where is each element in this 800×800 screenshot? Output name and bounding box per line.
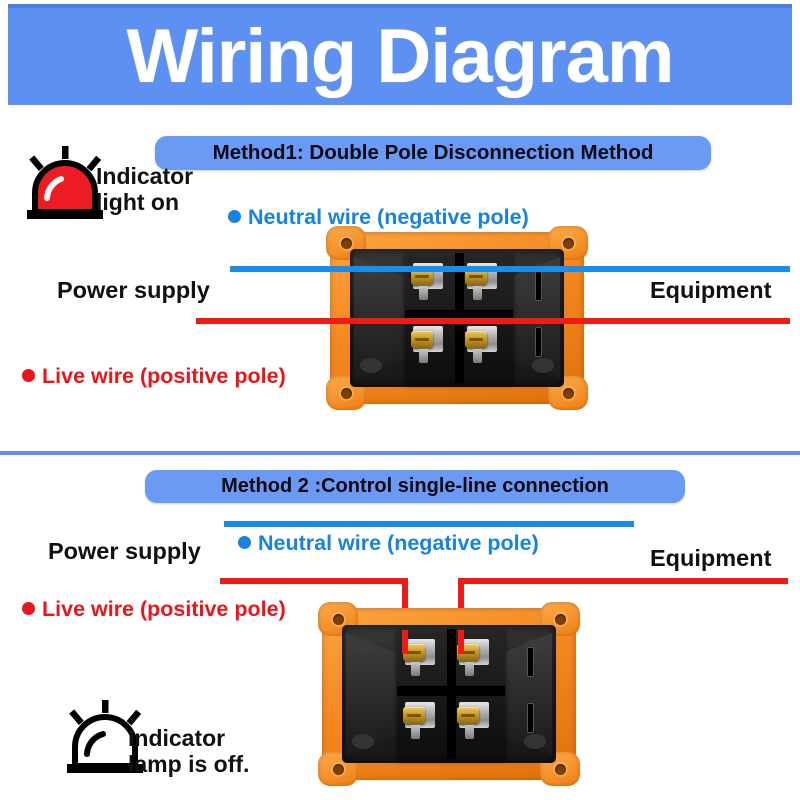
header-banner: Wiring Diagram — [8, 4, 792, 105]
m2-mount-hole-bl — [333, 764, 344, 775]
m2-neutral-text: Neutral wire (negative pole) — [258, 531, 539, 555]
m2-brass-screw — [403, 707, 425, 724]
m2-brass-screw — [457, 707, 479, 724]
m2-device-body — [342, 625, 556, 763]
method-2-title-pill: Method 2 :Control single-line connection — [145, 470, 685, 503]
m1-rubber-pad — [360, 358, 382, 373]
m2-divider-rib-h — [397, 686, 505, 696]
m1-indicator-line1: Indicator — [96, 164, 193, 190]
m2-mount-hole-tl — [333, 614, 344, 625]
m2-live-wire-right-tip — [458, 630, 464, 654]
m1-terminal-screw-bottom-left — [411, 326, 445, 352]
m2-vent-slot — [527, 647, 534, 677]
m1-neutral-text: Neutral wire (negative pole) — [248, 205, 529, 229]
m2-live-wire-left-run — [220, 578, 408, 584]
m2-screw-tail — [465, 662, 474, 676]
m2-equipment-label: Equipment — [650, 545, 771, 571]
m1-terminal-screw-bottom-right — [465, 326, 499, 352]
page-title: Wiring Diagram — [127, 19, 674, 95]
m2-terminal-screw-bottom-right — [457, 702, 491, 728]
m2-rubber-pad — [524, 734, 546, 749]
m1-vent-slot — [535, 327, 542, 357]
m2-terminal-screw-top-left — [403, 639, 437, 665]
m1-equipment-label: Equipment — [650, 277, 771, 303]
m1-indicator-label: Indicator light on — [96, 164, 193, 216]
m1-live-wire-overlay — [196, 318, 790, 324]
m2-live-label: Live wire (positive pole) — [22, 597, 286, 621]
m1-mount-hole-br — [563, 388, 574, 399]
m2-terminal-block — [322, 608, 576, 780]
m2-mount-hole-tr — [555, 614, 566, 625]
m1-mount-hole-bl — [341, 388, 352, 399]
m1-screw-tail — [473, 349, 482, 363]
m1-neutral-bullet-icon — [228, 210, 241, 223]
m1-rubber-pad — [532, 358, 554, 373]
m1-mount-hole-tr — [563, 238, 574, 249]
m2-terminal-screw-bottom-left — [403, 702, 437, 728]
m2-live-bullet-icon — [22, 602, 35, 615]
m1-vent-slot — [535, 271, 542, 301]
m2-vent-slot — [527, 703, 534, 733]
method-1-title-pill: Method1: Double Pole Disconnection Metho… — [155, 136, 711, 170]
m1-brass-screw — [465, 331, 487, 348]
m2-screw-tail — [465, 725, 474, 739]
m1-neutral-label: Neutral wire (negative pole) — [228, 205, 529, 229]
m1-power-supply-label: Power supply — [57, 277, 210, 303]
section-divider — [0, 451, 800, 455]
m1-mount-hole-tl — [341, 238, 352, 249]
m1-screw-tail — [419, 349, 428, 363]
m2-neutral-bullet-icon — [238, 536, 251, 549]
m1-screw-tail — [473, 286, 482, 300]
m2-terminal-platform — [397, 629, 505, 759]
m1-screw-tail — [419, 286, 428, 300]
m2-indicator-label: Indicator lamp is off. — [128, 726, 249, 778]
m2-live-wire-right-run — [458, 578, 788, 584]
m2-screw-tail — [411, 662, 420, 676]
wiring-diagram-page: Wiring Diagram Method1: Double Pole Disc… — [0, 0, 800, 800]
m2-power-supply-label: Power supply — [48, 538, 201, 564]
m2-mount-hole-br — [555, 764, 566, 775]
m2-rubber-pad — [352, 639, 374, 654]
m1-indicator-line2: light on — [96, 190, 193, 216]
m2-live-text: Live wire (positive pole) — [42, 597, 286, 621]
m1-live-bullet-icon — [22, 369, 35, 382]
m2-live-wire-left-tip — [402, 630, 408, 654]
m2-screw-tail — [411, 725, 420, 739]
m2-indicator-line1: Indicator — [128, 726, 249, 752]
m2-indicator-line2: lamp is off. — [128, 752, 249, 778]
m2-neutral-label: Neutral wire (negative pole) — [238, 531, 539, 555]
m1-live-text: Live wire (positive pole) — [42, 364, 286, 388]
m1-neutral-wire-overlay — [230, 266, 790, 272]
m1-live-label: Live wire (positive pole) — [22, 364, 286, 388]
m1-brass-screw — [411, 331, 433, 348]
m2-rubber-pad — [352, 734, 374, 749]
m2-neutral-wire — [224, 521, 634, 527]
